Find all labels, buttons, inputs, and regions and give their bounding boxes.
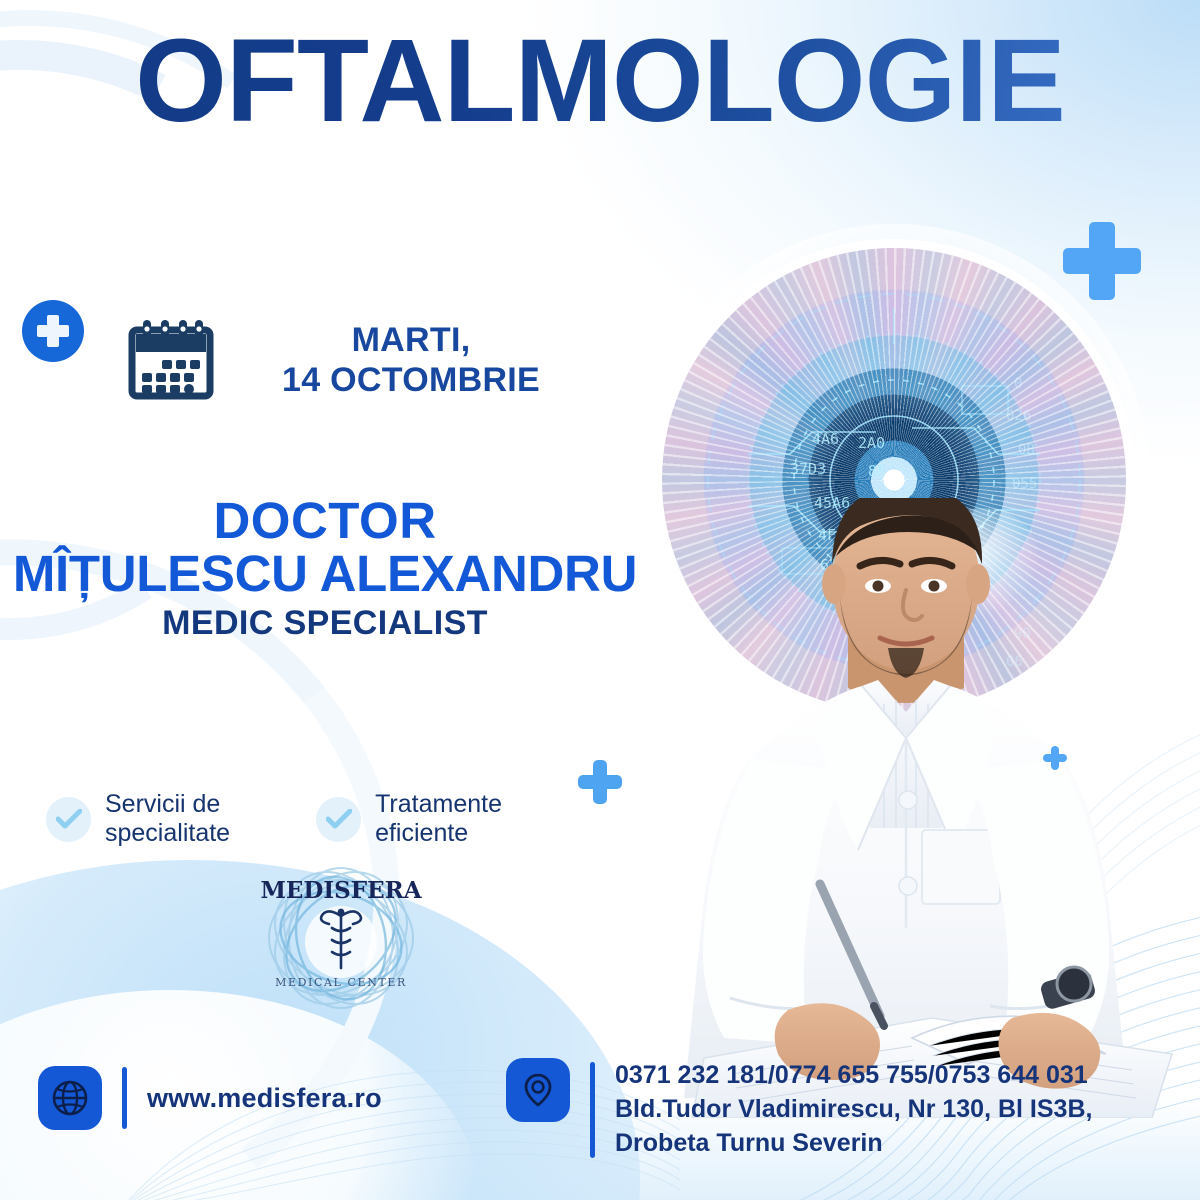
date-full: 14 OCTOMBRIE	[282, 360, 540, 400]
date-text: MARTI, 14 OCTOMBRIE	[236, 320, 540, 400]
medical-cross-icon	[1043, 746, 1067, 770]
medical-cross-icon	[578, 760, 622, 804]
svg-text:0B: 0B	[1018, 442, 1035, 458]
feature-item: Servicii de specialitate	[46, 790, 230, 848]
pin-glyph	[519, 1071, 557, 1109]
footer-address[interactable]: 0371 232 181/0774 655 755/0753 644 031 B…	[506, 1058, 1092, 1160]
logo-name: MEDISFERA	[260, 877, 422, 904]
footer: www.medisfera.ro 0371 232 181/0774 655 7…	[0, 1030, 1200, 1200]
calendar-icon	[128, 318, 214, 402]
features-list: Servicii de specialitate Tratamente efic…	[46, 790, 502, 848]
cross-glyph	[35, 313, 71, 349]
poster-root: OFTALMOLOGIE	[0, 0, 1200, 1200]
feature-label: Tratamente eficiente	[375, 790, 502, 848]
globe-glyph	[51, 1079, 89, 1117]
doctor-role: MEDIC SPECIALIST	[0, 602, 650, 645]
location-pin-icon	[506, 1058, 570, 1122]
check-circle-icon	[46, 797, 91, 842]
check-circle-icon	[316, 797, 361, 842]
logo-graphic: MEDISFERA MEDICAL CENTER	[238, 862, 444, 1014]
footer-divider	[590, 1062, 595, 1158]
date-row: MARTI, 14 OCTOMBRIE	[128, 318, 540, 402]
svg-text:026: 026	[1006, 408, 1031, 424]
doctor-kicker: DOCTOR	[0, 495, 650, 547]
svg-text:37D3: 37D3	[790, 460, 826, 478]
svg-text:2A0: 2A0	[858, 434, 885, 452]
address-text: 0371 232 181/0774 655 755/0753 644 031 B…	[615, 1058, 1092, 1160]
doctor-portrait-photo	[612, 498, 1200, 1118]
medical-cross-badge-icon	[22, 300, 84, 362]
globe-icon	[38, 1066, 102, 1130]
footer-divider	[122, 1067, 127, 1129]
page-title: OFTALMOLOGIE	[0, 20, 1200, 144]
date-weekday: MARTI,	[282, 320, 540, 360]
svg-text:0: 0	[1014, 376, 1022, 392]
doctor-name-block: DOCTOR MÎȚULESCU ALEXANDRU MEDIC SPECIAL…	[0, 495, 650, 645]
logo-tagline: MEDICAL CENTER	[275, 976, 407, 989]
medisfera-logo: MEDISFERA MEDICAL CENTER	[238, 862, 444, 1014]
svg-text:055: 055	[1012, 476, 1037, 492]
feature-item: Tratamente eficiente	[316, 790, 502, 848]
website-url[interactable]: www.medisfera.ro	[147, 1083, 382, 1114]
feature-label: Servicii de specialitate	[105, 790, 230, 848]
doctor-name: MÎȚULESCU ALEXANDRU	[0, 547, 650, 600]
svg-text:8F: 8F	[868, 462, 886, 480]
check-glyph	[56, 809, 82, 829]
check-glyph	[326, 809, 352, 829]
medical-cross-icon	[1063, 222, 1141, 300]
svg-text:4A6: 4A6	[812, 430, 839, 448]
footer-website[interactable]: www.medisfera.ro	[38, 1066, 382, 1130]
